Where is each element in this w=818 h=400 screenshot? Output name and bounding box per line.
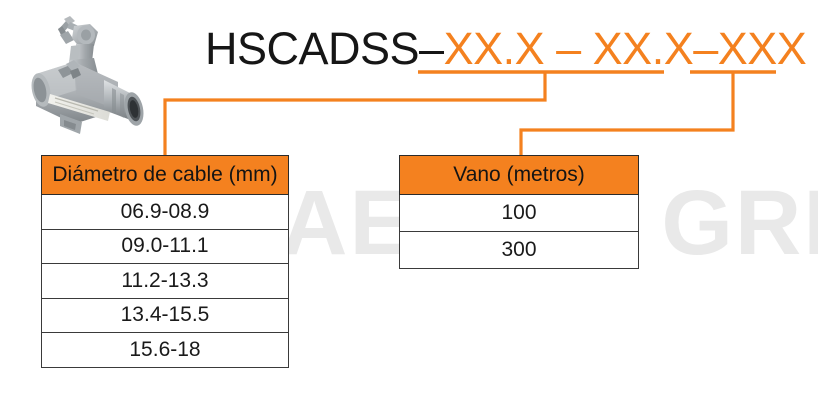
table-header-row: Vano (metros)	[400, 156, 639, 195]
product-code-title: HSCADSS–XX.X – XX.X–XXX	[205, 22, 806, 76]
table-row[interactable]: 100	[400, 195, 639, 232]
table-cell-cable-diameter[interactable]: 13.4-15.5	[42, 298, 289, 333]
table-cable-diameter-header: Diámetro de cable (mm)	[42, 156, 289, 195]
table-cell-vano[interactable]: 300	[400, 232, 639, 269]
table-row[interactable]: 300	[400, 232, 639, 269]
code-dash: –	[693, 23, 718, 74]
code-prefix: HSCADSS–	[205, 23, 444, 74]
table-row[interactable]: 15.6-18	[42, 333, 289, 368]
table-cell-cable-diameter[interactable]: 06.9-08.9	[42, 195, 289, 230]
table-row[interactable]: 13.4-15.5	[42, 298, 289, 333]
diagram-canvas: AERIAL GRIP	[0, 0, 818, 400]
table-header-row: Diámetro de cable (mm)	[42, 156, 289, 195]
table-row[interactable]: 06.9-08.9	[42, 195, 289, 230]
code-span-part: XXX	[718, 23, 807, 74]
table-vano-header: Vano (metros)	[400, 156, 639, 195]
connector-span-to-vano-table	[521, 72, 733, 155]
connector-diameter-to-cable-table	[165, 72, 545, 155]
product-photo	[14, 2, 154, 144]
table-cable-diameter: Diámetro de cable (mm) 06.9-08.9 09.0-11…	[41, 155, 289, 368]
code-diameter-part-1: XX.X	[444, 23, 545, 74]
table-cell-cable-diameter[interactable]: 11.2-13.3	[42, 264, 289, 299]
product-main-body	[29, 60, 147, 134]
table-cell-cable-diameter[interactable]: 15.6-18	[42, 333, 289, 368]
table-cell-vano[interactable]: 100	[400, 195, 639, 232]
code-diameter-part-2: XX.X	[593, 23, 694, 74]
table-row[interactable]: 09.0-11.1	[42, 229, 289, 264]
table-cell-cable-diameter[interactable]: 09.0-11.1	[42, 229, 289, 264]
code-separator: –	[544, 23, 593, 74]
table-row[interactable]: 11.2-13.3	[42, 264, 289, 299]
table-vano: Vano (metros) 100 300	[399, 155, 639, 269]
